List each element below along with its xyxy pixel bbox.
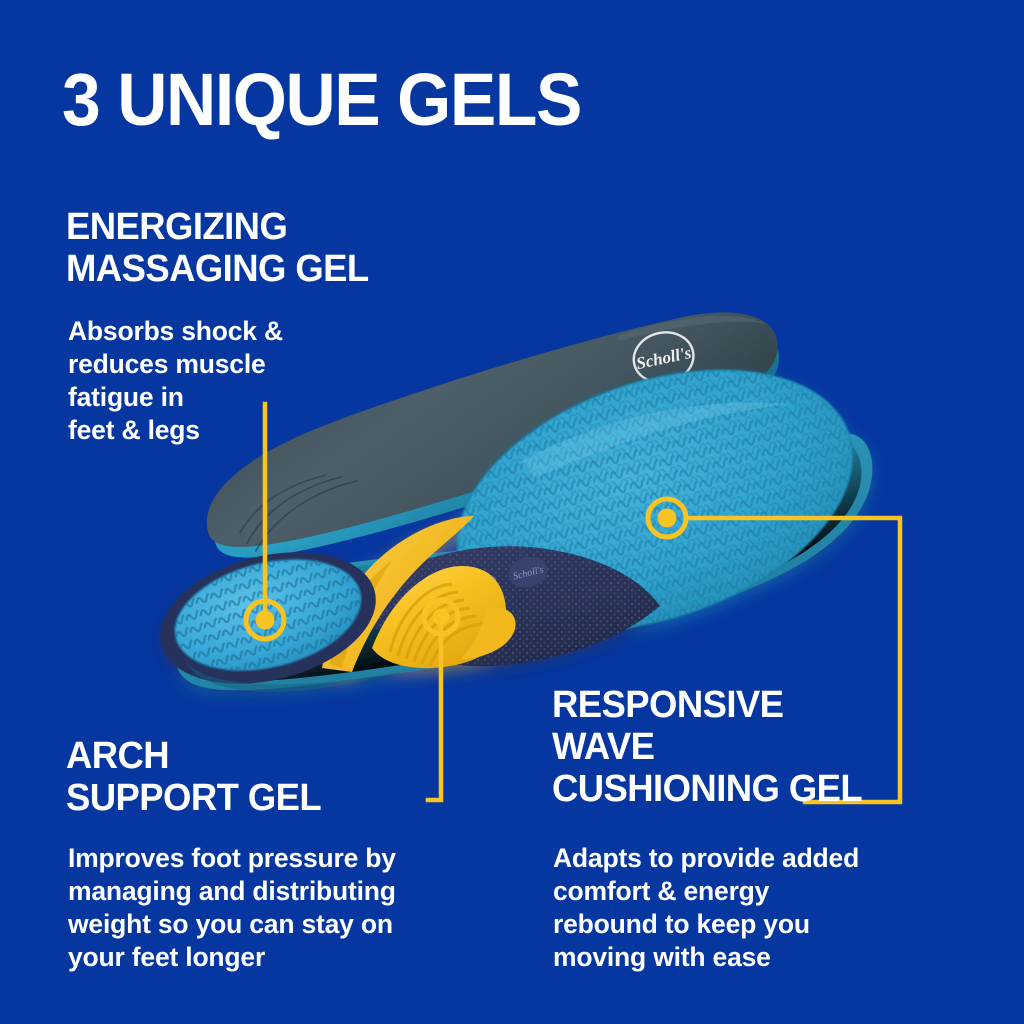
brand-logo: Scholl's	[629, 327, 698, 388]
svg-text:R: R	[485, 573, 500, 592]
callout-body-responsive-wave-cushioning-gel: Adapts to provide added comfort & energy…	[553, 842, 859, 974]
callout-heading-arch-support-gel: ARCH SUPPORT GEL	[66, 735, 321, 819]
connector-arch	[428, 628, 441, 800]
arch-support-gel	[322, 516, 516, 672]
midfoot-plate: R Scholl's	[340, 530, 680, 680]
infographic-canvas: Scholl's	[0, 0, 1024, 1024]
callout-body-energizing-massaging-gel: Absorbs shock & reduces muscle fatigue i…	[68, 315, 283, 447]
heel-gel-pad	[146, 531, 390, 705]
marker-energizing	[246, 601, 284, 639]
forefoot-gel-pad	[423, 322, 887, 679]
marker-responsive	[648, 499, 686, 537]
callout-heading-energizing-massaging-gel: ENERGIZING MASSAGING GEL	[66, 206, 369, 290]
callout-body-arch-support-gel: Improves foot pressure by managing and d…	[68, 842, 396, 974]
callout-markers	[246, 499, 686, 639]
callout-heading-responsive-wave-cushioning-gel: RESPONSIVE WAVE CUSHIONING GEL	[552, 684, 862, 810]
svg-text:Scholl's: Scholl's	[634, 343, 693, 373]
svg-text:Scholl's: Scholl's	[512, 564, 545, 582]
marker-arch	[424, 600, 458, 634]
page-title: 3 UNIQUE GELS	[62, 63, 581, 137]
